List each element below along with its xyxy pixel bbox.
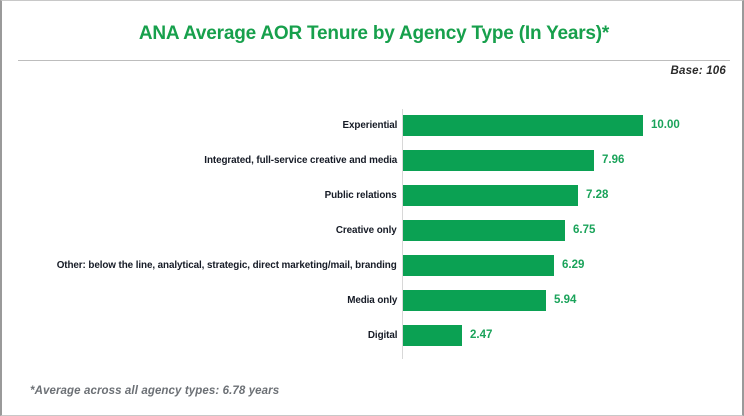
- chart-slide: ANA Average AOR Tenure by Agency Type (I…: [0, 0, 744, 416]
- category-label: Integrated, full-service creative and me…: [204, 150, 397, 171]
- chart-row: Creative only 6.75: [2, 220, 744, 241]
- category-label: Experiential: [342, 115, 397, 136]
- bar: [403, 150, 594, 171]
- bar: [403, 115, 643, 136]
- chart-row: Other: below the line, analytical, strat…: [2, 255, 744, 276]
- value-label: 5.94: [554, 290, 576, 311]
- chart-row: Integrated, full-service creative and me…: [2, 150, 744, 171]
- bar: [403, 325, 462, 346]
- category-label: Media only: [347, 290, 397, 311]
- chart-row: Digital 2.47: [2, 325, 744, 346]
- footnote: *Average across all agency types: 6.78 y…: [30, 385, 279, 397]
- chart-row: Experiential 10.00: [2, 115, 744, 136]
- bar: [403, 185, 578, 206]
- base-note: Base: 106: [670, 65, 726, 77]
- value-label: 7.28: [586, 185, 608, 206]
- value-label: 7.96: [602, 150, 624, 171]
- chart-row: Public relations 7.28: [2, 185, 744, 206]
- value-label: 6.75: [573, 220, 595, 241]
- category-label: Creative only: [336, 220, 397, 241]
- value-label: 2.47: [470, 325, 492, 346]
- chart-row: Media only 5.94: [2, 290, 744, 311]
- value-label: 10.00: [651, 115, 680, 136]
- bar: [403, 255, 554, 276]
- title-divider: [18, 60, 730, 61]
- category-label: Other: below the line, analytical, strat…: [57, 255, 397, 276]
- category-label: Digital: [367, 325, 397, 346]
- bar: [403, 220, 565, 241]
- bar: [403, 290, 546, 311]
- category-label: Public relations: [325, 185, 397, 206]
- value-label: 6.29: [562, 255, 584, 276]
- bar-chart-plot: Experiential 10.00 Integrated, full-serv…: [2, 105, 744, 361]
- page-title: ANA Average AOR Tenure by Agency Type (I…: [2, 23, 744, 45]
